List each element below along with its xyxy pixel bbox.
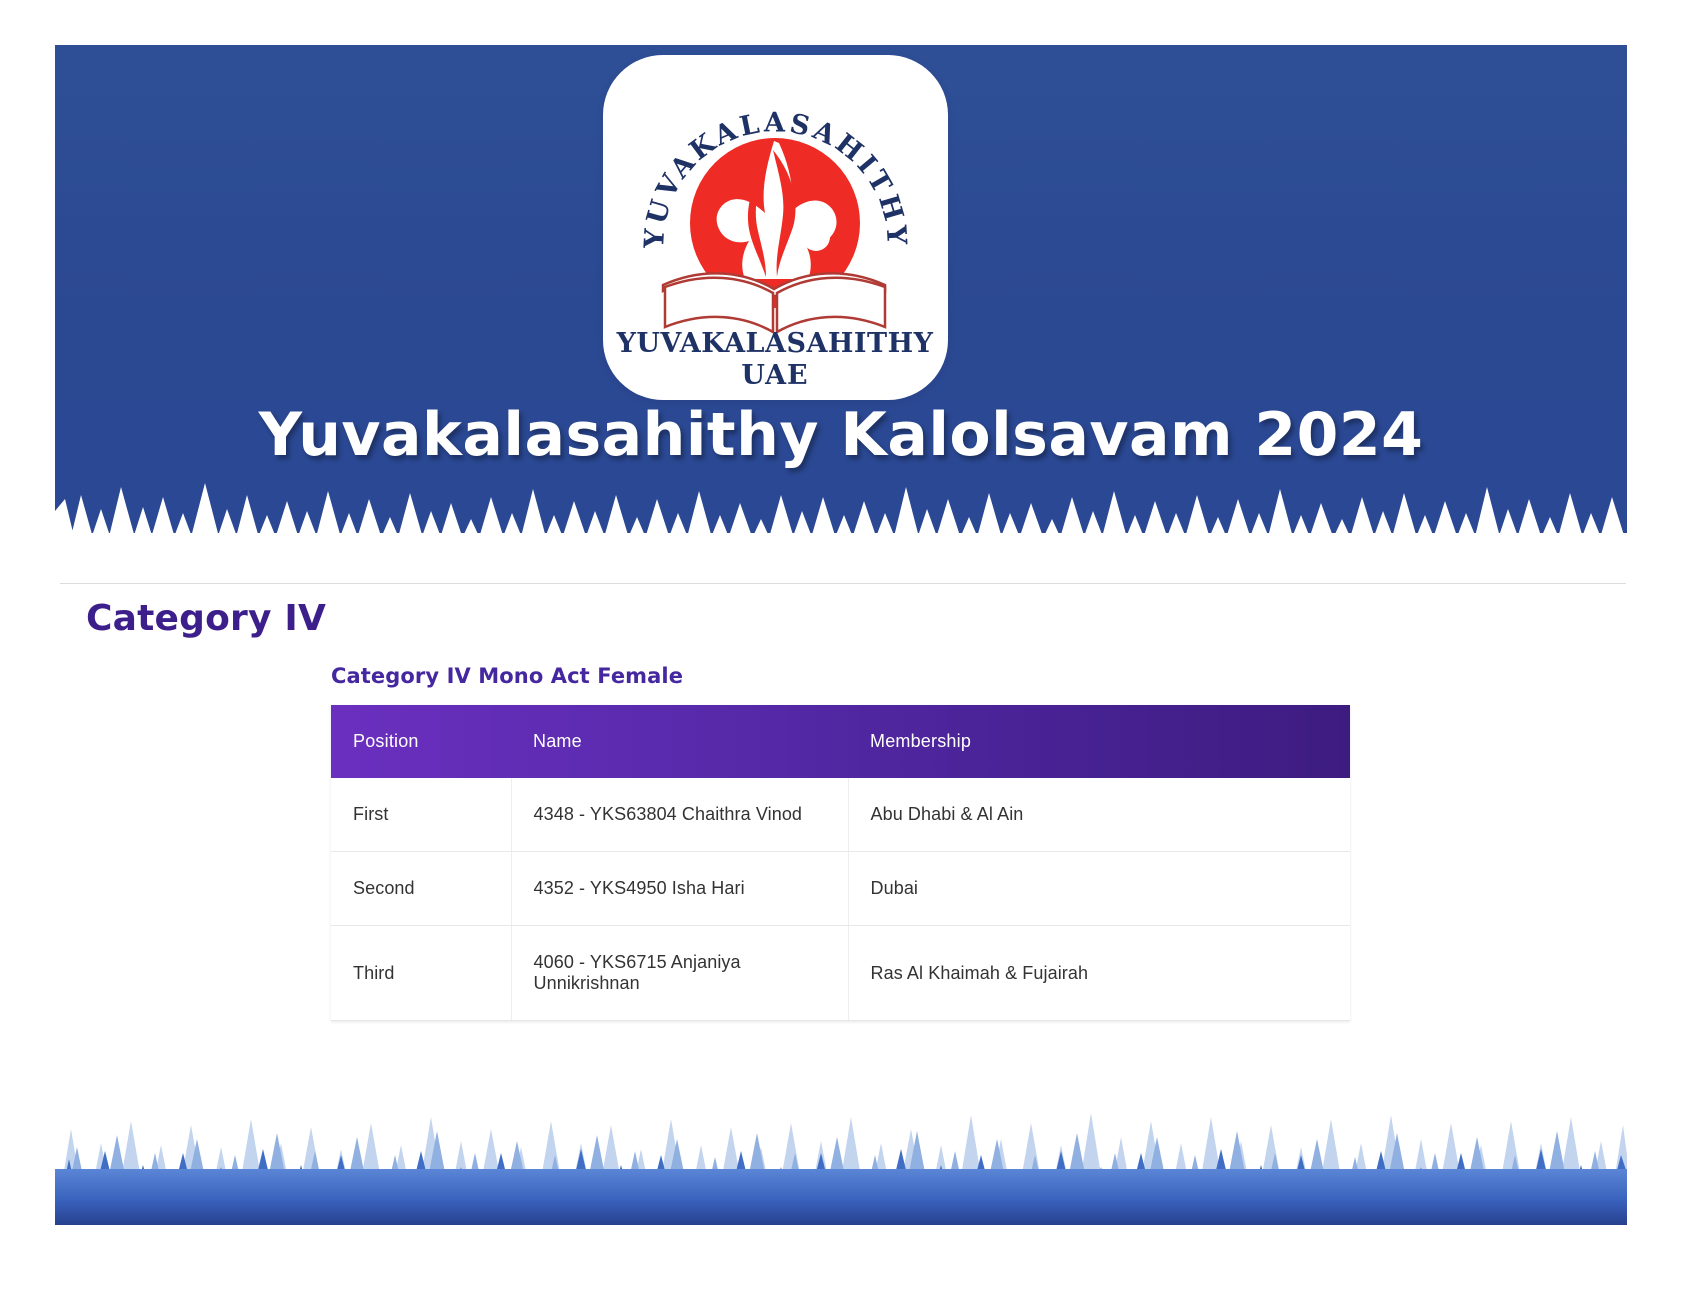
yuvakalasahithy-logo-icon: YUVAKALASAHITHY YUVAKALASAHITHY UAE	[603, 55, 948, 400]
logo-wordmark-line1: YUVAKALASAHITHY	[616, 328, 934, 359]
cell-position: Second	[331, 852, 511, 926]
cell-membership: Dubai	[848, 852, 1350, 926]
cell-name: 4060 - YKS6715 Anjaniya Unnikrishnan	[511, 926, 848, 1021]
logo-wordmark-line2: UAE	[741, 360, 808, 391]
section-divider	[60, 583, 1626, 584]
table-header-row: Position Name Membership	[331, 705, 1350, 778]
results-table-body: First 4348 - YKS63804 Chaithra Vinod Abu…	[331, 778, 1350, 1021]
cell-name: 4352 - YKS4950 Isha Hari	[511, 852, 848, 926]
cell-position: First	[331, 778, 511, 852]
banner-title: Yuvakalasahithy Kalolsavam 2024	[55, 400, 1627, 470]
cell-position: Third	[331, 926, 511, 1021]
column-header-position: Position	[331, 705, 511, 778]
results-table: Position Name Membership First 4348 - YK…	[331, 705, 1350, 1021]
event-title: Category IV Mono Act Female	[331, 664, 1350, 688]
banner-treeline-decoration	[55, 475, 1627, 545]
organization-logo-card: YUVAKALASAHITHY YUVAKALASAHITHY UAE	[603, 55, 948, 400]
cell-membership: Abu Dhabi & Al Ain	[848, 778, 1350, 852]
table-row: Second 4352 - YKS4950 Isha Hari Dubai	[331, 852, 1350, 926]
footer-forest-decoration	[55, 1095, 1627, 1225]
event-results-block: Category IV Mono Act Female Position Nam…	[331, 664, 1350, 1021]
header-banner: YUVAKALASAHITHY YUVAKALASAHITHY UAE Yuva…	[55, 45, 1627, 545]
results-table-head: Position Name Membership	[331, 705, 1350, 778]
column-header-membership: Membership	[848, 705, 1350, 778]
table-row: Third 4060 - YKS6715 Anjaniya Unnikrishn…	[331, 926, 1350, 1021]
page-title: Category IV	[86, 598, 326, 639]
column-header-name: Name	[511, 705, 848, 778]
table-row: First 4348 - YKS63804 Chaithra Vinod Abu…	[331, 778, 1350, 852]
page-root: YUVAKALASAHITHY YUVAKALASAHITHY UAE Yuva…	[0, 0, 1683, 1296]
cell-name: 4348 - YKS63804 Chaithra Vinod	[511, 778, 848, 852]
cell-membership: Ras Al Khaimah & Fujairah	[848, 926, 1350, 1021]
